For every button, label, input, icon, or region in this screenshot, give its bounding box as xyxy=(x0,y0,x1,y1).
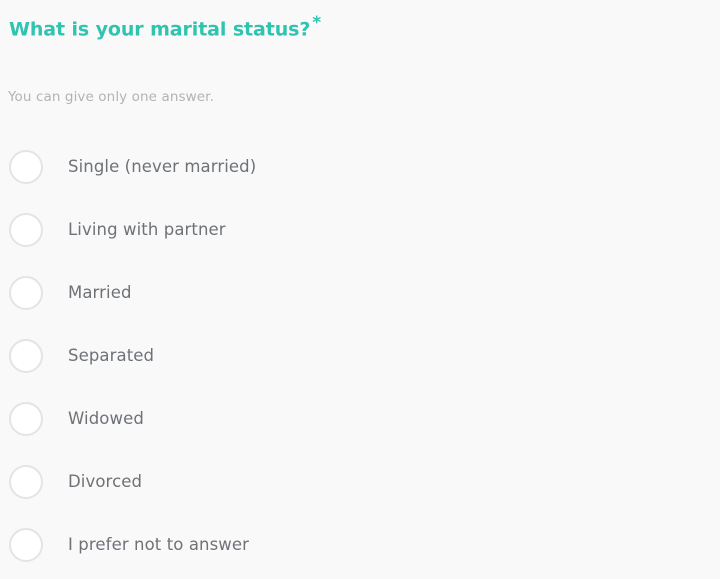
radio-circle-icon[interactable] xyxy=(9,465,43,499)
radio-circle-icon[interactable] xyxy=(9,339,43,373)
radio-circle-icon[interactable] xyxy=(9,402,43,436)
radio-option-label: Divorced xyxy=(68,472,142,491)
radio-option-label: Single (never married) xyxy=(68,157,256,176)
radio-circle-icon[interactable] xyxy=(9,528,43,562)
radio-option-prefer-not-to-answer[interactable]: I prefer not to answer xyxy=(0,513,720,576)
radio-group: Single (never married) Living with partn… xyxy=(0,135,720,576)
question-title-text: What is your marital status? xyxy=(9,18,310,40)
radio-option-label: Married xyxy=(68,283,132,302)
radio-option-separated[interactable]: Separated xyxy=(0,324,720,387)
radio-option-widowed[interactable]: Widowed xyxy=(0,387,720,450)
radio-option-single-never-married[interactable]: Single (never married) xyxy=(0,135,720,198)
radio-circle-icon[interactable] xyxy=(9,150,43,184)
radio-option-label: Separated xyxy=(68,346,154,365)
radio-option-label: I prefer not to answer xyxy=(68,535,249,554)
page-title: What is your marital status?* xyxy=(9,13,321,40)
radio-circle-icon[interactable] xyxy=(9,276,43,310)
survey-question-card: What is your marital status?* You can gi… xyxy=(0,0,720,579)
radio-option-married[interactable]: Married xyxy=(0,261,720,324)
required-asterisk-icon: * xyxy=(312,13,321,33)
radio-circle-icon[interactable] xyxy=(9,213,43,247)
radio-option-divorced[interactable]: Divorced xyxy=(0,450,720,513)
radio-option-living-with-partner[interactable]: Living with partner xyxy=(0,198,720,261)
radio-option-label: Living with partner xyxy=(68,220,226,239)
radio-option-label: Widowed xyxy=(68,409,144,428)
question-hint: You can give only one answer. xyxy=(8,89,214,105)
